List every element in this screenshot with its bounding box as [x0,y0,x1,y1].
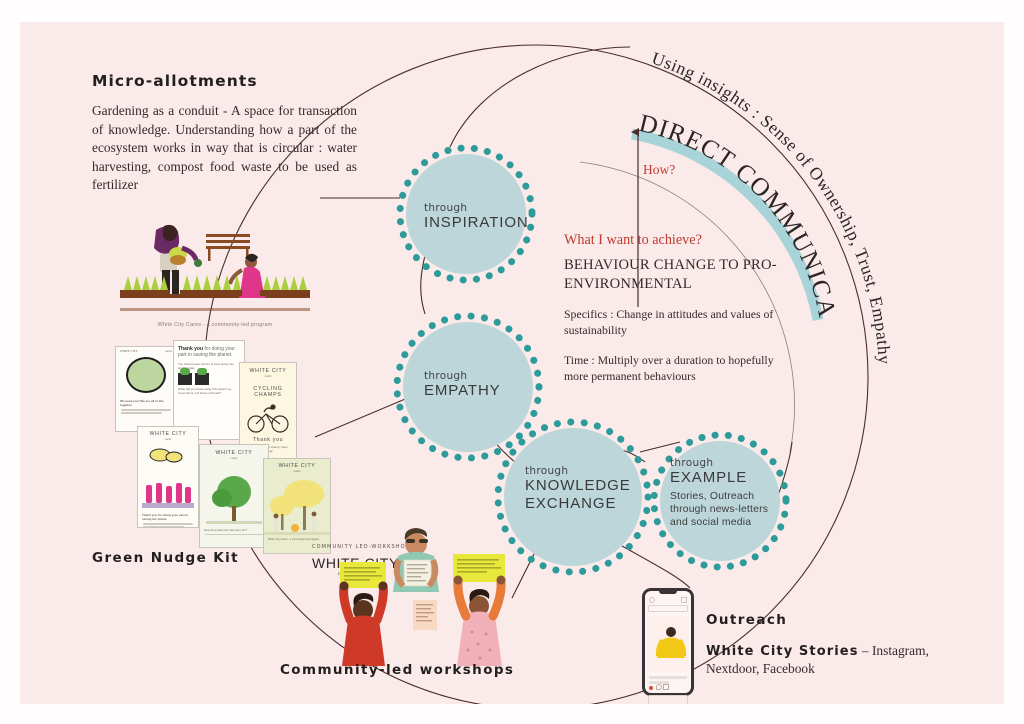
node-label-inspiration: through INSPIRATION [424,202,529,232]
node-title-empathy: EMPATHY [424,382,501,400]
workshops-caption: Community-led workshops [280,662,514,678]
green-nudge-kit-collage: WHITE CITYcares We need you! We are all … [115,340,330,555]
node-title-example: EXAMPLE [670,469,770,487]
outreach-caption: Outreach [706,612,787,628]
micro-allotments-body: Gardening as a conduit - A space for tra… [92,102,357,195]
node-through-example: through [670,457,770,469]
green-nudge-kit-caption: Green Nudge Kit [92,550,239,566]
share-icon[interactable] [663,684,669,690]
how-label: How? [643,162,675,178]
phone-secondary-card[interactable] [648,695,688,704]
phone-post-card[interactable] [648,616,688,672]
phone-search-bar[interactable] [648,605,688,612]
specifics-text: Specifics : Change in attitudes and valu… [564,306,774,338]
post-illustration [648,616,688,672]
white-city-stories-label: White City Stories [706,644,859,659]
outreach-stories-line: White City Stories – Instagram, Nextdoor… [706,642,956,678]
pink-canvas: DIRECT COMMUNICATION Using insights : Se… [20,22,1004,704]
node-label-empathy: through EMPATHY [424,370,501,400]
node-title-knowledge: KNOWLEDGE EXCHANGE [525,477,631,512]
heart-icon[interactable] [649,686,653,690]
poster-thank-you: Thank you for doing your part in saving … [173,340,245,440]
node-title-inspiration: INSPIRATION [424,214,529,232]
poster-community: WHITE CITY cares Thank you for doing you… [137,426,199,528]
phone-mockup [642,588,694,696]
time-text: Time : Multiply over a duration to hopef… [564,352,779,384]
achieve-question: What I want to achieve? [564,232,702,249]
micro-allotments-title: Micro-allotments [92,72,258,90]
node-through-inspiration: through [424,202,529,214]
garden-caption: White City Cares - a community-led progr… [125,322,305,328]
workshops-illustration [320,522,520,667]
poster-canvas: DIRECT COMMUNICATION Using insights : Se… [0,0,1024,724]
phone-caption-line-1 [649,676,687,679]
garden-illustration [120,220,310,330]
poster-we-need-you: WHITE CITYcares We need you! We are all … [115,346,177,432]
poster-tree: WHITE CITY cares How long was this tree … [199,444,269,548]
search-icon[interactable] [649,597,655,603]
node-label-knowledge-exchange: through KNOWLEDGE EXCHANGE [525,465,631,512]
achieve-headline: BEHAVIOUR CHANGE TO PRO-ENVIRONMENTAL [564,256,794,294]
node-through-knowledge: through [525,465,631,477]
node-through-empathy: through [424,370,501,382]
menu-icon[interactable] [681,597,687,603]
node-sub-example: Stories, Outreach through news-letters a… [670,490,770,530]
node-label-example: through EXAMPLE Stories, Outreach throug… [670,457,770,529]
comment-icon[interactable] [656,684,662,690]
